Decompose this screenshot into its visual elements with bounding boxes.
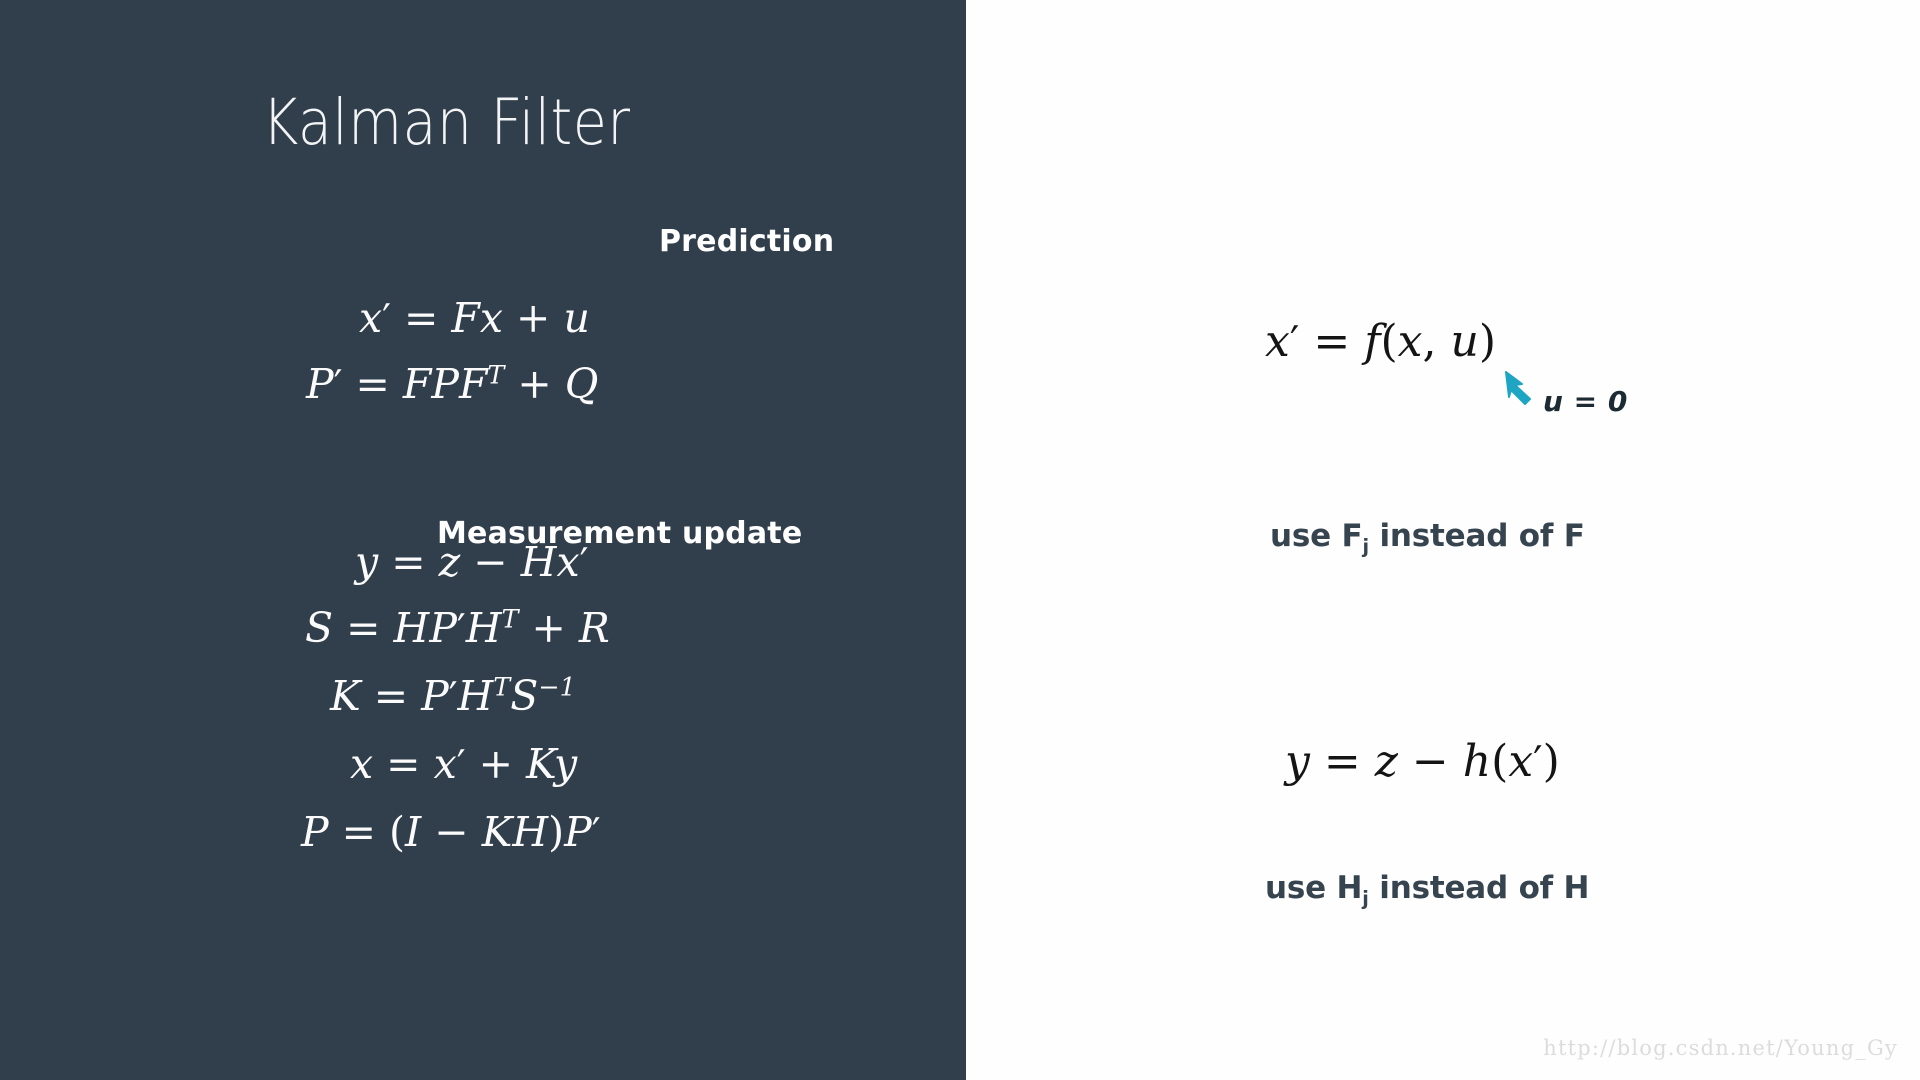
math-var-x: x bbox=[556, 538, 579, 586]
equation-ekf-y-residual: y = z − h(x′) bbox=[1285, 740, 1560, 784]
math-plus: + bbox=[516, 294, 550, 342]
note-prefix: use F bbox=[1270, 518, 1363, 554]
math-plus: + bbox=[517, 360, 551, 408]
math-var-u: u bbox=[563, 294, 589, 342]
math-minus: − bbox=[434, 808, 468, 856]
math-prime: ′ bbox=[449, 675, 458, 720]
math-func-f: f bbox=[1364, 316, 1380, 367]
note-suffix: instead of F bbox=[1369, 518, 1585, 554]
math-prime: ′ bbox=[1290, 317, 1300, 366]
math-var-F: F bbox=[451, 294, 479, 342]
math-var-y: y bbox=[355, 538, 378, 586]
math-left-paren: ( bbox=[1381, 316, 1398, 367]
equation-x-update: x = x′ + Ky bbox=[350, 744, 577, 786]
math-var-x: x bbox=[1508, 736, 1533, 787]
math-var-F: F bbox=[403, 360, 431, 408]
math-right-paren: ) bbox=[1479, 316, 1496, 367]
math-var-P: P bbox=[301, 808, 329, 856]
math-var-F2: F bbox=[459, 360, 487, 408]
math-var-z: z bbox=[439, 538, 461, 586]
math-superscript-T: T bbox=[502, 603, 519, 633]
math-var-H: H bbox=[458, 672, 494, 720]
math-var-P: P bbox=[421, 672, 449, 720]
math-prime: ′ bbox=[457, 743, 466, 788]
equation-ekf-x-prime: x′ = f(x, u) bbox=[1265, 320, 1496, 364]
math-var-S: S bbox=[305, 604, 333, 652]
math-equals: = bbox=[391, 538, 425, 586]
math-var-I: I bbox=[405, 808, 421, 856]
math-minus: − bbox=[1412, 736, 1449, 787]
note-use-hj-instead-of-h: use Hj instead of H bbox=[1265, 870, 1589, 906]
math-var-K: K bbox=[330, 672, 361, 720]
math-equals: = bbox=[342, 808, 376, 856]
math-prime: ′ bbox=[592, 811, 601, 856]
math-var-x2: x bbox=[1398, 316, 1423, 367]
math-var-K: K bbox=[526, 740, 554, 788]
math-var-R: R bbox=[579, 604, 610, 652]
math-equals: = bbox=[1313, 316, 1350, 367]
math-var-P2: P bbox=[564, 808, 592, 856]
equation-y-residual: y = z − Hx′ bbox=[355, 542, 588, 584]
math-var-y: y bbox=[554, 740, 577, 788]
kalman-filter-panel: Kalman Filter Prediction x′ = Fx + u P′ … bbox=[0, 0, 966, 1080]
math-var-P2: P bbox=[431, 360, 459, 408]
math-equals: = bbox=[386, 740, 420, 788]
math-equals: = bbox=[404, 294, 438, 342]
math-var-x2: x bbox=[434, 740, 457, 788]
math-plus: + bbox=[479, 740, 513, 788]
equation-k-kalman-gain: K = P′HTS−1 bbox=[330, 676, 576, 718]
math-func-h: h bbox=[1463, 736, 1491, 787]
note-suffix: instead of H bbox=[1369, 870, 1590, 906]
math-var-H: H bbox=[394, 604, 430, 652]
equation-s-innovation-covariance: S = HP′HT + R bbox=[305, 608, 610, 650]
math-superscript-T: T bbox=[487, 359, 504, 389]
math-var-y: y bbox=[1285, 736, 1310, 787]
math-prime: ′ bbox=[382, 297, 391, 342]
math-var-H2: H bbox=[466, 604, 502, 652]
math-comma: , bbox=[1423, 316, 1437, 367]
section-heading-prediction: Prediction bbox=[659, 224, 834, 259]
note-prefix: use H bbox=[1265, 870, 1362, 906]
math-superscript-minus-one: −1 bbox=[538, 671, 575, 701]
page-title-kalman-filter: Kalman Filter bbox=[262, 86, 631, 159]
math-var-Q: Q bbox=[565, 360, 599, 408]
math-var-u: u bbox=[1451, 316, 1479, 367]
math-var-x: x bbox=[1265, 316, 1290, 367]
math-equals: = bbox=[1324, 736, 1361, 787]
watermark-url: http://blog.csdn.net/Young_Gy bbox=[1543, 1036, 1898, 1060]
math-var-z: z bbox=[1375, 736, 1398, 787]
math-prime: ′ bbox=[580, 541, 589, 586]
math-equals: = bbox=[374, 672, 408, 720]
math-prime: ′ bbox=[457, 607, 466, 652]
note-use-fj-instead-of-f: use Fj instead of F bbox=[1270, 518, 1585, 554]
math-var-x: x bbox=[359, 294, 382, 342]
math-left-paren: ( bbox=[1491, 736, 1508, 787]
equation-p-update: P = (I − KH)P′ bbox=[301, 812, 601, 854]
math-var-H: H bbox=[521, 538, 557, 586]
equation-p-prime-predict: P′ = FPFT + Q bbox=[306, 364, 598, 406]
annotation-label-u-equals-zero: u = 0 bbox=[1543, 385, 1628, 418]
math-var-P: P bbox=[429, 604, 457, 652]
math-prime: ′ bbox=[1533, 737, 1543, 786]
math-var-K: K bbox=[482, 808, 513, 856]
math-equals: = bbox=[346, 604, 380, 652]
math-var-P: P bbox=[306, 360, 334, 408]
slide-root: Kalman Filter Prediction x′ = Fx + u P′ … bbox=[0, 0, 1920, 1080]
math-var-H: H bbox=[512, 808, 548, 856]
math-right-paren: ) bbox=[548, 808, 564, 856]
math-var-x2: x bbox=[480, 294, 503, 342]
math-equals: = bbox=[355, 360, 389, 408]
math-right-paren: ) bbox=[1543, 736, 1560, 787]
equation-x-prime-predict: x′ = Fx + u bbox=[359, 298, 590, 340]
math-prime: ′ bbox=[334, 363, 343, 408]
math-left-paren: ( bbox=[389, 808, 405, 856]
math-var-S: S bbox=[510, 672, 538, 720]
math-minus: − bbox=[473, 538, 507, 586]
math-var-x: x bbox=[350, 740, 373, 788]
math-plus: + bbox=[532, 604, 566, 652]
math-superscript-T: T bbox=[493, 671, 510, 701]
